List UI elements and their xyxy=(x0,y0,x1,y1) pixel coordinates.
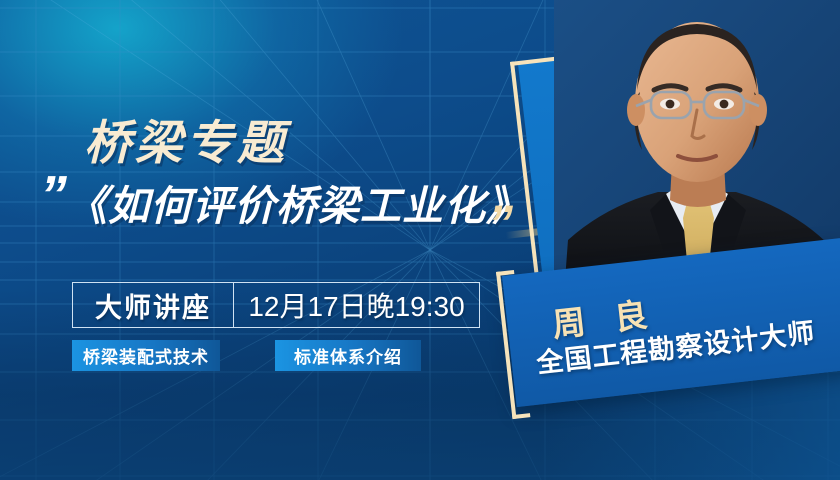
quote-close-mark: ” xyxy=(488,198,509,248)
topic-tag-1[interactable]: 桥梁装配式技术 xyxy=(72,340,220,371)
topic-tag-2[interactable]: 标准体系介绍 xyxy=(275,340,421,371)
page-title: 桥梁专题 xyxy=(84,104,288,173)
lecture-info-box: 大师讲座 12月17日晚19:30 xyxy=(72,282,480,328)
lecture-badge-label: 大师讲座 xyxy=(95,286,211,325)
lecture-datetime-label: 12月17日晚19:30 xyxy=(248,285,464,325)
quote-open-mark: ” xyxy=(40,168,63,222)
poster-canvas: 周 良 全国工程勘察设计大师 桥梁专题 ” 《如何评价桥梁工业化》 ” 大师讲座… xyxy=(0,0,840,480)
page-subtitle: 《如何评价桥梁工业化》 xyxy=(66,172,528,232)
lecture-datetime: 12月17日晚19:30 xyxy=(234,283,479,327)
lecture-badge: 大师讲座 xyxy=(73,283,234,327)
